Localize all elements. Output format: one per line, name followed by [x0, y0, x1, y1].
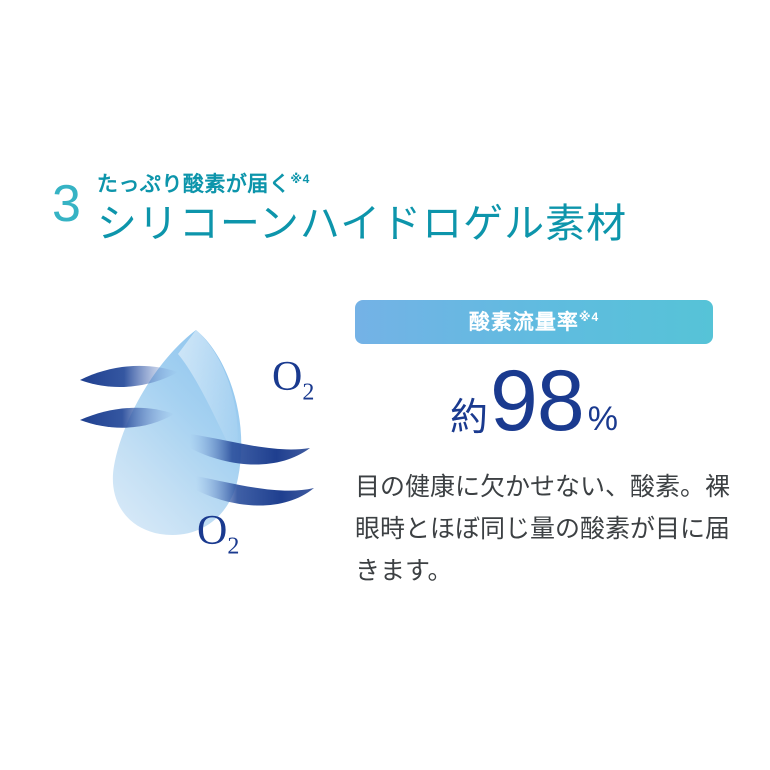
rate-column: 酸素流量率※4 約 98 % 目の健康に欠かせない、酸素。裸眼時とほぼ同じ量の酸…: [355, 300, 715, 592]
header-text-block: たっぷり酸素が届く※4 シリコーンハイドロゲル素材: [97, 166, 627, 248]
o2-label-bottom-subscript: 2: [227, 533, 239, 559]
lens-body: [113, 330, 241, 535]
oxygen-rate-banner-label: 酸素流量率※4: [469, 311, 599, 333]
oxygen-rate-banner-text: 酸素流量率: [469, 311, 579, 334]
section-subtitle: たっぷり酸素が届く※4: [97, 166, 627, 198]
o2-label-top-symbol: O: [272, 354, 302, 400]
o2-label-top-subscript: 2: [302, 379, 314, 405]
lens-illustration: O2 O2: [78, 328, 358, 578]
oxygen-rate-banner: 酸素流量率※4: [355, 300, 713, 344]
section-header: 3 たっぷり酸素が届く※4 シリコーンハイドロゲル素材: [52, 166, 627, 248]
o2-label-top: O2: [272, 356, 314, 404]
rate-number: 98: [490, 358, 584, 444]
step-number: 3: [52, 178, 81, 230]
section-subtitle-footnote: ※4: [290, 172, 309, 186]
o2-label-bottom-symbol: O: [197, 508, 227, 554]
rate-approx-prefix: 約: [450, 399, 488, 437]
oxygen-rate-banner-footnote: ※4: [579, 310, 599, 324]
rate-percent-sign: %: [588, 402, 618, 436]
section-title: シリコーンハイドロゲル素材: [97, 200, 627, 248]
promo-panel: 3 たっぷり酸素が届く※4 シリコーンハイドロゲル素材: [0, 0, 770, 770]
description-text: 目の健康に欠かせない、酸素。裸眼時とほぼ同じ量の酸素が目に届きます。: [355, 466, 735, 592]
section-subtitle-text: たっぷり酸素が届く: [97, 173, 291, 196]
oxygen-rate-value: 約 98 %: [355, 358, 713, 444]
o2-label-bottom: O2: [197, 510, 239, 558]
